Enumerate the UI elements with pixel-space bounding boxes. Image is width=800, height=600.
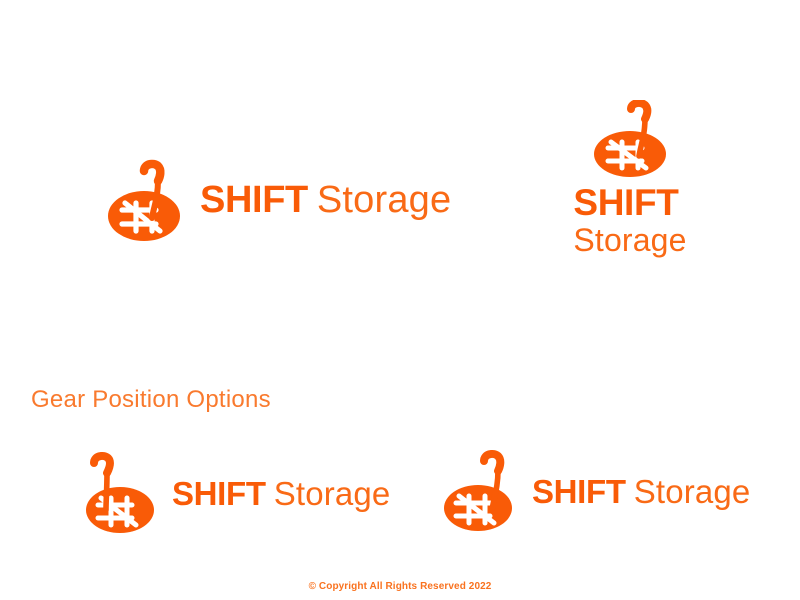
gear-shifter-icon <box>444 450 516 532</box>
wordmark-storage: Storage <box>573 224 686 256</box>
wordmark: SHIFT Storage <box>200 181 451 219</box>
wordmark: SHIFT Storage <box>172 477 390 510</box>
section-heading-gear-position-options: Gear Position Options <box>31 386 271 414</box>
wordmark-shift: SHIFT <box>172 477 266 510</box>
gear-option-right-lockup: SHIFT Storage <box>444 450 750 532</box>
logo-presentation-canvas: SHIFT Storage SHIFT Storage Gear Positio… <box>0 0 800 600</box>
wordmark-storage: Storage <box>317 181 451 219</box>
gear-option-left-lockup: SHIFT Storage <box>84 452 390 534</box>
wordmark-shift: SHIFT <box>532 475 626 508</box>
gear-shifter-icon <box>108 158 186 242</box>
wordmark-shift: SHIFT <box>200 181 308 219</box>
gear-shifter-icon <box>592 100 674 178</box>
footer-copyright: © Copyright All Rights Reserved 2022 <box>0 581 800 592</box>
stacked-lockup: SHIFT Storage <box>560 100 700 256</box>
gear-shifter-icon <box>84 452 156 534</box>
wordmark: SHIFT Storage <box>532 475 750 508</box>
wordmark-shift: SHIFT <box>573 184 686 221</box>
wordmark-storage: Storage <box>634 475 751 508</box>
wordmark-storage: Storage <box>274 477 391 510</box>
wordmark: SHIFT Storage <box>573 178 686 256</box>
primary-horizontal-lockup: SHIFT Storage <box>108 158 451 242</box>
